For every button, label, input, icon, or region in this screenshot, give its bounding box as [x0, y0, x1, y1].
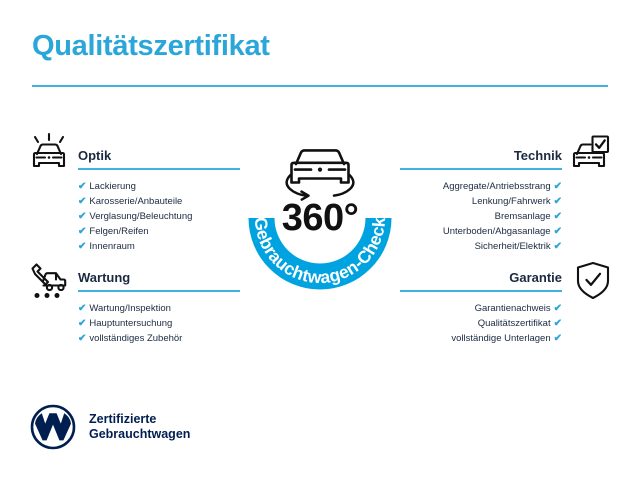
section-garantie: Garantie Garantienachweis✔ Qualitätszert… [400, 270, 562, 346]
list-item-label: Felgen/Reifen [89, 226, 148, 237]
footer-line-2: Gebrauchtwagen [89, 427, 190, 442]
list-item: Unterboden/Abgasanlage✔ [400, 224, 562, 239]
check-icon: ✔ [554, 196, 562, 207]
badge-center-label: 360° [282, 197, 359, 239]
list-item: ✔Karosserie/Anbauteile [78, 194, 240, 209]
list-item-label: Bremsanlage [495, 211, 551, 222]
check-icon: ✔ [554, 241, 562, 252]
check-icon: ✔ [554, 333, 562, 344]
footer-text: Zertifizierte Gebrauchtwagen [89, 412, 190, 442]
list-item: ✔Innenraum [78, 239, 240, 254]
title-divider [32, 85, 608, 87]
list-item-label: Sicherheit/Elektrik [475, 241, 551, 252]
check-icon: ✔ [78, 211, 86, 222]
shield-check-icon [570, 258, 616, 304]
check-icon: ✔ [554, 303, 562, 314]
list-item-label: Hauptuntersuchung [89, 318, 172, 329]
checklist-garantie: Garantienachweis✔ Qualitätszertifikat✔ v… [400, 292, 562, 346]
section-optik: Optik ✔Lackierung ✔Karosserie/Anbauteile… [78, 148, 240, 254]
section-heading-optik: Optik [78, 148, 240, 168]
section-wartung: Wartung ✔Wartung/Inspektion ✔Hauptunters… [78, 270, 240, 346]
section-technik: Technik Aggregate/Antriebsstrang✔ Lenkun… [400, 148, 562, 254]
list-item: Garantienachweis✔ [400, 301, 562, 316]
list-item: ✔vollständiges Zubehör [78, 331, 240, 346]
section-heading-technik: Technik [400, 148, 562, 168]
checklist-technik: Aggregate/Antriebsstrang✔ Lenkung/Fahrwe… [400, 170, 562, 254]
list-item-label: Aggregate/Antriebsstrang [443, 181, 551, 192]
list-item: ✔Wartung/Inspektion [78, 301, 240, 316]
list-item: ✔Lackierung [78, 179, 240, 194]
list-item: Bremsanlage✔ [400, 209, 562, 224]
list-item-label: Garantienachweis [475, 303, 551, 314]
list-item-label: Lenkung/Fahrwerk [472, 196, 551, 207]
vw-logo-icon [30, 404, 76, 450]
car-checkbox-icon [566, 130, 612, 176]
check-icon: ✔ [554, 181, 562, 192]
checklist-optik: ✔Lackierung ✔Karosserie/Anbauteile ✔Verg… [78, 170, 240, 254]
list-item: Qualitätszertifikat✔ [400, 316, 562, 331]
page-title: Qualitätszertifikat [32, 30, 270, 63]
checklist-wartung: ✔Wartung/Inspektion ✔Hauptuntersuchung ✔… [78, 292, 240, 346]
list-item-label: Innenraum [89, 241, 134, 252]
car-rotation-icon [287, 150, 354, 199]
car-wrench-icon [26, 258, 72, 304]
badge-360-gebrauchtwagen-check: Gebrauchtwagen-Check 360° [228, 112, 412, 308]
check-icon: ✔ [554, 211, 562, 222]
check-icon: ✔ [78, 241, 86, 252]
list-item-label: Verglasung/Beleuchtung [89, 211, 192, 222]
section-heading-wartung: Wartung [78, 270, 240, 290]
footer-brand: Zertifizierte Gebrauchtwagen [30, 404, 190, 450]
list-item: vollständige Unterlagen✔ [400, 331, 562, 346]
list-item: ✔Felgen/Reifen [78, 224, 240, 239]
list-item: Lenkung/Fahrwerk✔ [400, 194, 562, 209]
list-item-label: Wartung/Inspektion [89, 303, 171, 314]
car-shine-icon [26, 130, 72, 176]
list-item-label: Unterboden/Abgasanlage [443, 226, 551, 237]
qualitaetszertifikat-page: Qualitätszertifikat Optik ✔Lackierung ✔K… [0, 0, 640, 480]
check-icon: ✔ [554, 318, 562, 329]
list-item-label: vollständiges Zubehör [89, 333, 182, 344]
list-item: Aggregate/Antriebsstrang✔ [400, 179, 562, 194]
list-item-label: Lackierung [89, 181, 135, 192]
check-icon: ✔ [554, 226, 562, 237]
list-item: ✔Hauptuntersuchung [78, 316, 240, 331]
footer-line-1: Zertifizierte [89, 412, 190, 427]
section-heading-garantie: Garantie [400, 270, 562, 290]
list-item-label: vollständige Unterlagen [451, 333, 550, 344]
check-icon: ✔ [78, 196, 86, 207]
list-item: ✔Verglasung/Beleuchtung [78, 209, 240, 224]
check-icon: ✔ [78, 303, 86, 314]
list-item: Sicherheit/Elektrik✔ [400, 239, 562, 254]
check-icon: ✔ [78, 226, 86, 237]
list-item-label: Karosserie/Anbauteile [89, 196, 182, 207]
check-icon: ✔ [78, 318, 86, 329]
check-icon: ✔ [78, 333, 86, 344]
list-item-label: Qualitätszertifikat [478, 318, 551, 329]
check-icon: ✔ [78, 181, 86, 192]
